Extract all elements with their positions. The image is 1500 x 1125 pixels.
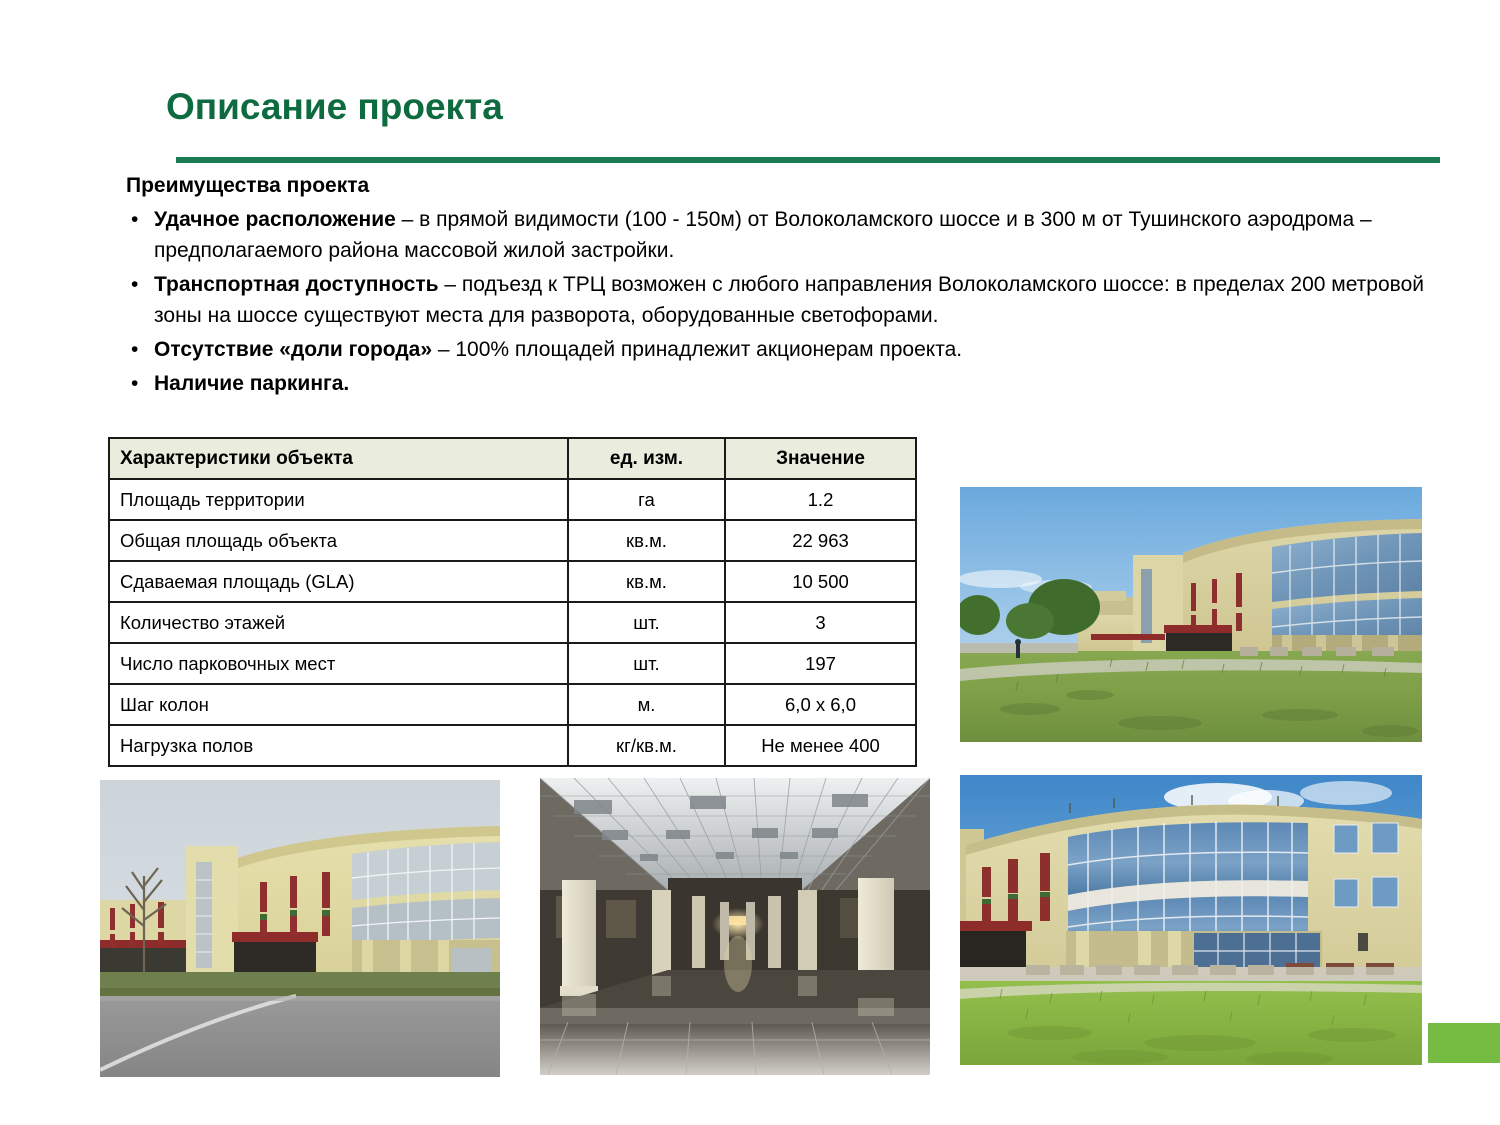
photo-exterior-overcast (100, 780, 500, 1077)
list-item-lead: Отсутствие «доли города» (154, 338, 432, 361)
cell-label: Количество этажей (109, 602, 568, 643)
advantages-heading: Преимущества проекта (126, 174, 369, 198)
list-item-text: Отсутствие «доли города» – 100% площадей… (154, 334, 1446, 365)
list-item: • Отсутствие «доли города» – 100% площад… (126, 334, 1446, 365)
cell-unit: шт. (568, 602, 725, 643)
table-row: Шаг колон м. 6,0 х 6,0 (109, 684, 916, 725)
list-item: • Наличие паркинга. (126, 368, 1446, 399)
bullet-glyph-icon: • (126, 204, 154, 235)
photo-facade-glass (960, 775, 1422, 1065)
table-row: Общая площадь объекта кв.м. 22 963 (109, 520, 916, 561)
list-item-text: Удачное расположение – в прямой видимост… (154, 204, 1446, 266)
cell-unit: шт. (568, 643, 725, 684)
bullet-glyph-icon: • (126, 269, 154, 300)
table-row: Площадь территории га 1.2 (109, 479, 916, 520)
advantages-bullet-list: • Удачное расположение – в прямой видимо… (126, 204, 1446, 402)
cell-value: 22 963 (725, 520, 916, 561)
cell-label: Площадь территории (109, 479, 568, 520)
photo-interior-hall-image (540, 778, 930, 1075)
cell-unit: га (568, 479, 725, 520)
table-row: Число парковочных мест шт. 197 (109, 643, 916, 684)
cell-value: Не менее 400 (725, 725, 916, 766)
photo-exterior-sunny (960, 487, 1422, 742)
cell-label: Шаг колон (109, 684, 568, 725)
list-item-lead: Транспортная доступность (154, 273, 439, 296)
cell-value: 3 (725, 602, 916, 643)
table-row: Сдаваемая площадь (GLA) кв.м. 10 500 (109, 561, 916, 602)
cell-value: 6,0 х 6,0 (725, 684, 916, 725)
cell-label: Общая площадь объекта (109, 520, 568, 561)
bullet-glyph-icon: • (126, 334, 154, 365)
table-header-row: Характеристики объекта ед. изм. Значение (109, 438, 916, 479)
cell-value: 10 500 (725, 561, 916, 602)
photo-exterior-sunny-image (960, 487, 1422, 742)
cell-unit: м. (568, 684, 725, 725)
table-row: Количество этажей шт. 3 (109, 602, 916, 643)
cell-unit: кв.м. (568, 520, 725, 561)
column-header-unit: ед. изм. (568, 438, 725, 479)
bullet-glyph-icon: • (126, 368, 154, 399)
list-item: • Удачное расположение – в прямой видимо… (126, 204, 1446, 266)
list-item-text: Транспортная доступность – подъезд к ТРЦ… (154, 269, 1446, 331)
page-title: Описание проекта (166, 86, 503, 128)
cell-label: Число парковочных мест (109, 643, 568, 684)
photo-facade-glass-image (960, 775, 1422, 1065)
cell-value: 197 (725, 643, 916, 684)
list-item-text: Наличие паркинга. (154, 368, 1446, 399)
list-item-lead: Наличие паркинга. (154, 372, 349, 395)
column-header-characteristic: Характеристики объекта (109, 438, 568, 479)
title-underline-rule (176, 157, 1440, 163)
green-accent-block (1428, 1023, 1500, 1063)
cell-unit: кг/кв.м. (568, 725, 725, 766)
photo-exterior-overcast-image (100, 780, 500, 1077)
cell-value: 1.2 (725, 479, 916, 520)
list-item-lead: Удачное расположение (154, 208, 396, 231)
photo-interior-hall (540, 778, 930, 1075)
cell-label: Сдаваемая площадь (GLA) (109, 561, 568, 602)
cell-unit: кв.м. (568, 561, 725, 602)
cell-label: Нагрузка полов (109, 725, 568, 766)
table-row: Нагрузка полов кг/кв.м. Не менее 400 (109, 725, 916, 766)
list-item: • Транспортная доступность – подъезд к Т… (126, 269, 1446, 331)
list-item-rest: – 100% площадей принадлежит акционерам п… (432, 338, 962, 361)
object-characteristics-table: Характеристики объекта ед. изм. Значение… (108, 437, 917, 767)
column-header-value: Значение (725, 438, 916, 479)
